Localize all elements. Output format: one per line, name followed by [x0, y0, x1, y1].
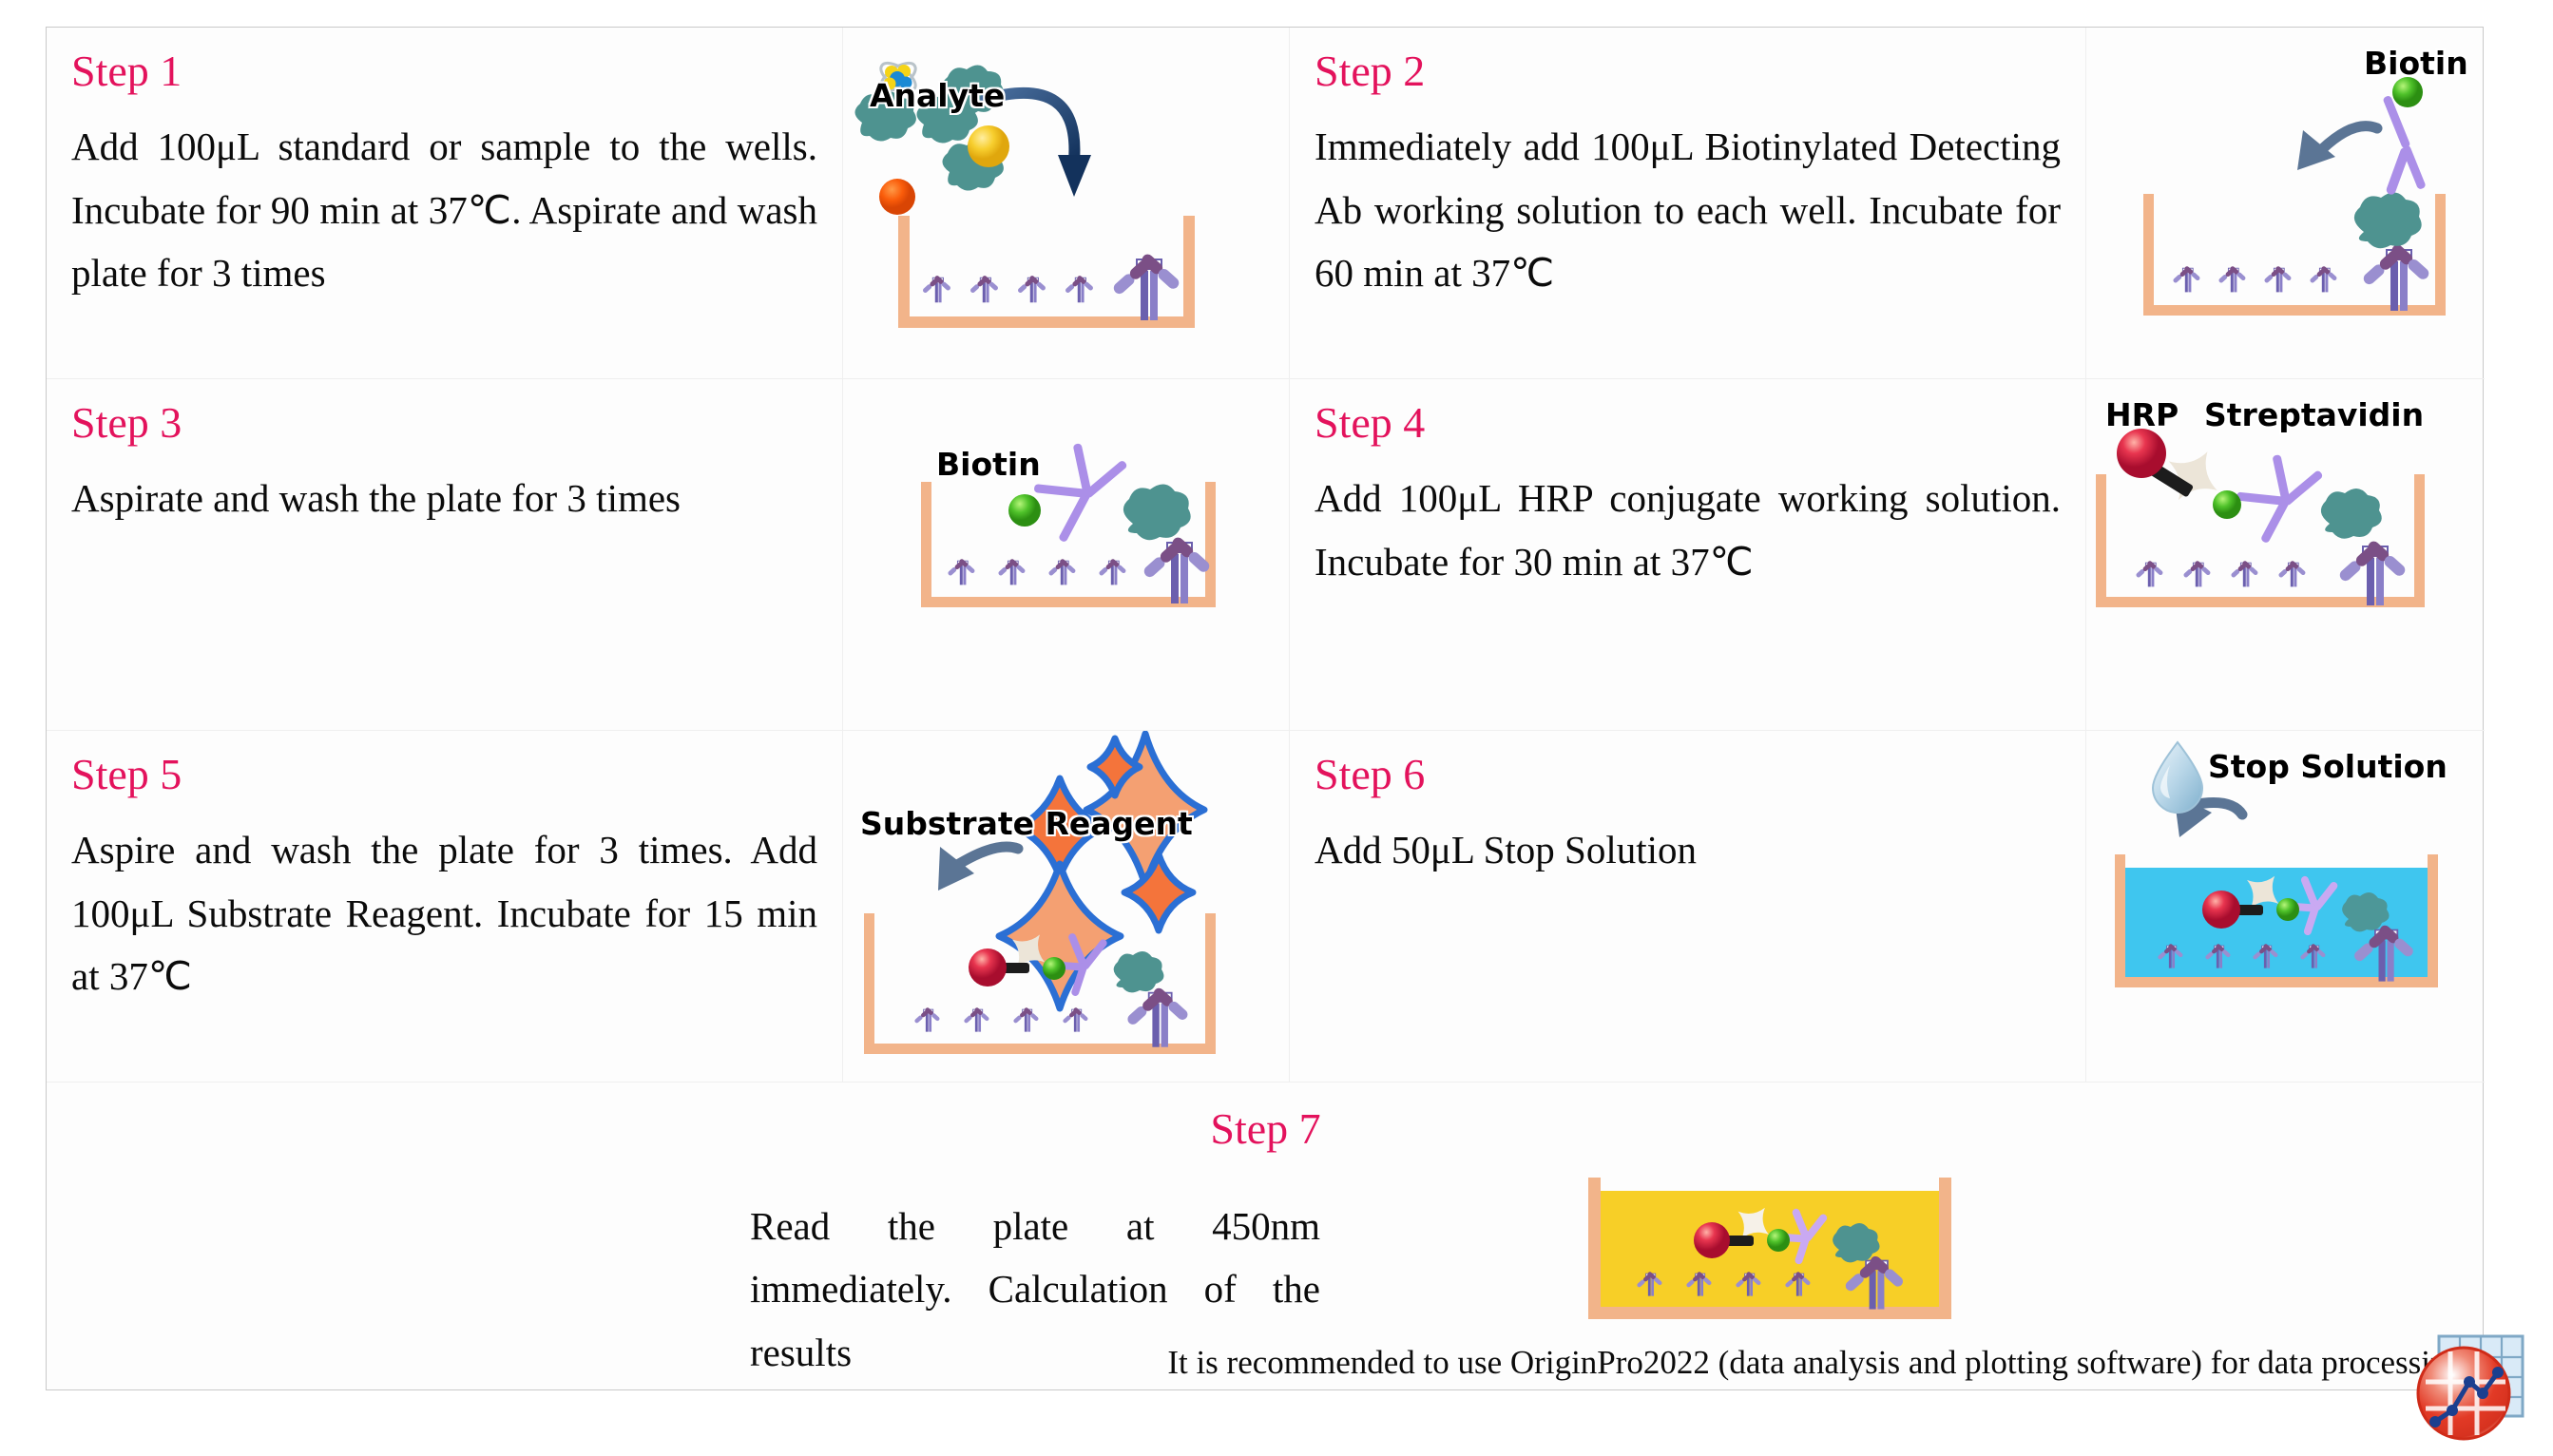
step-3-figure-cell: Biotin: [843, 379, 1290, 731]
step-5-figure-label: Substrate Reagent: [860, 805, 1193, 842]
step-6-title: Step 6: [1315, 752, 2061, 797]
step-1-figure-cell: Analyte: [843, 28, 1290, 379]
step-5-illustration: [843, 731, 1290, 1082]
biotin-sphere: [2276, 898, 2299, 921]
step-6-text-cell: Step 6 Add 50μL Stop Solution: [1290, 731, 2086, 1082]
step-5-figure-cell: Substrate Reagent: [843, 731, 1290, 1082]
step-6-body: Add 50μL Stop Solution: [1315, 818, 2061, 881]
step-5-body: Aspire and wash the plate for 3 times. A…: [71, 818, 817, 1007]
step-2-body: Immediately add 100μL Biotinylated Detec…: [1315, 115, 2061, 304]
step-3-title: Step 3: [71, 400, 817, 446]
step-1-body: Add 100μL standard or sample to the well…: [71, 115, 817, 304]
biotin-sphere: [1008, 494, 1041, 527]
biotin-sphere: [1767, 1229, 1790, 1252]
step-3-body: Aspirate and wash the plate for 3 times: [71, 467, 817, 529]
step-1-title: Step 1: [71, 48, 817, 94]
step-3-text-cell: Step 3 Aspirate and wash the plate for 3…: [47, 379, 843, 731]
analyte-blob: [2354, 192, 2422, 248]
step-7-cell: Step 7 Read the plate at 450nm immediate…: [47, 1082, 2485, 1391]
step-2-figure-cell: Biotin: [2086, 28, 2485, 379]
step-4-figure-label-streptavidin: Streptavidin: [2204, 396, 2424, 433]
originpro-logo: [2410, 1323, 2532, 1448]
yellow-sphere: [968, 125, 1009, 167]
capture-antibody: [947, 535, 1211, 603]
biotin-sphere: [2213, 490, 2241, 519]
step-4-text-cell: Step 4 Add 100μL HRP conjugate working s…: [1290, 379, 2086, 731]
orange-sphere: [879, 179, 915, 215]
detecting-antibody: [2351, 95, 2427, 202]
line-chart-badge-icon: [2418, 1348, 2509, 1439]
curved-arrow-slate: [2297, 126, 2377, 170]
step-4-figure-cell: HRP Streptavidin: [2086, 379, 2485, 731]
water-droplet-icon: [2153, 742, 2202, 813]
curved-arrow-slate: [938, 847, 1018, 891]
step-7-illustration: [1577, 1166, 1976, 1356]
footer-note: It is recommended to use OriginPro2022 (…: [1167, 1344, 2464, 1382]
step-1-figure-label: Analyte: [870, 77, 1005, 114]
analyte-blob: [1114, 951, 1164, 992]
microplate-well-filled-yellow: [1588, 1178, 1951, 1319]
microplate-well: [2096, 474, 2425, 607]
step-6-figure-cell: Stop Solution: [2086, 731, 2485, 1082]
step-2-title: Step 2: [1315, 48, 2061, 94]
step-6-figure-label: Stop Solution: [2208, 748, 2447, 785]
step-2-figure-label: Biotin: [2364, 45, 2468, 82]
capture-antibody: [2172, 242, 2430, 311]
step-1-text-cell: Step 1 Add 100μL standard or sample to t…: [47, 28, 843, 379]
analyte-blob: [1123, 484, 1191, 540]
protocol-steps-table: Step 1 Add 100μL standard or sample to t…: [46, 27, 2484, 1390]
step-4-body: Add 100μL HRP conjugate working solution…: [1315, 467, 2061, 593]
biotin-sphere: [1043, 957, 1065, 980]
step-5-text-cell: Step 5 Aspire and wash the plate for 3 t…: [47, 731, 843, 1082]
substrate-sparkle: [999, 734, 1204, 1008]
step-7-title: Step 7: [47, 1103, 2485, 1154]
analyte-blob: [2321, 489, 2382, 539]
step-3-illustration: [843, 379, 1290, 731]
step-2-text-cell: Step 2 Immediately add 100μL Biotinylate…: [1290, 28, 2086, 379]
step-5-title: Step 5: [71, 752, 817, 797]
step-4-title: Step 4: [1315, 400, 2061, 446]
step-3-figure-label: Biotin: [936, 446, 1041, 483]
capture-antibody: [2135, 539, 2407, 605]
step-4-figure-label-hrp: HRP: [2105, 396, 2179, 433]
capture-antibody: [922, 252, 1181, 320]
